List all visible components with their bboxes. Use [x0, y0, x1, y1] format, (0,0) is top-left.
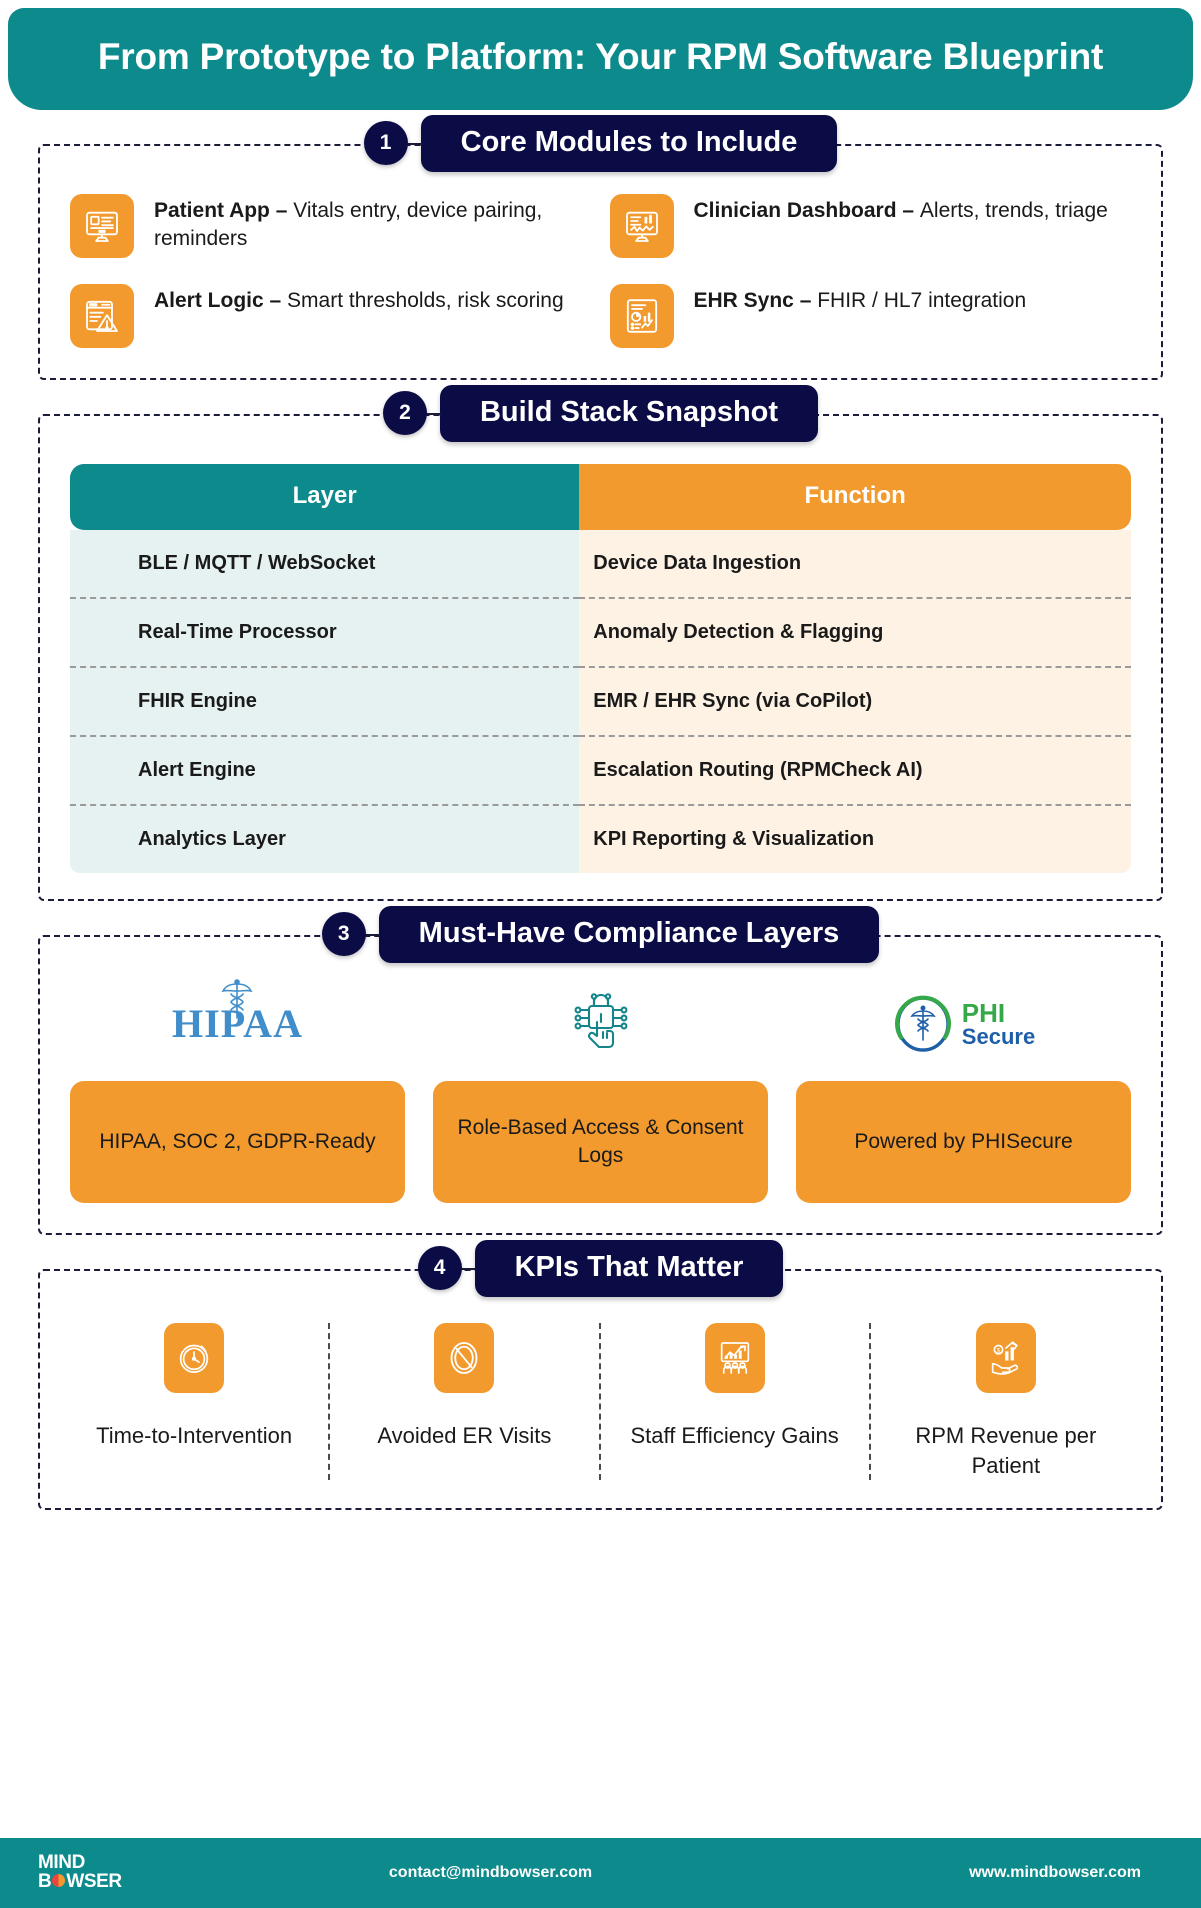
module-item: Patient App – Vitals entry, device pairi… — [70, 194, 592, 258]
prohibited-no-entry-icon — [434, 1323, 494, 1393]
cell-layer: FHIR Engine — [70, 667, 579, 736]
table-row: Analytics Layer KPI Reporting & Visualiz… — [70, 805, 1131, 873]
kpis-panel: Time-to-Intervention Avoided ER Visits — [38, 1269, 1163, 1510]
module-title: Clinician Dashboard – — [694, 199, 920, 222]
cell-function: KPI Reporting & Visualization — [579, 805, 1131, 873]
compliance-card: Powered by PHISecure — [796, 1081, 1131, 1203]
phi-logo-text-bottom: Secure — [962, 1026, 1035, 1048]
table-row: FHIR Engine EMR / EHR Sync (via CoPilot) — [70, 667, 1131, 736]
cell-layer: Real-Time Processor — [70, 598, 579, 667]
cell-layer: Alert Engine — [70, 736, 579, 805]
phi-secure-logo: PHI Secure — [892, 987, 1035, 1061]
kpi-column: Time-to-Intervention — [60, 1323, 330, 1480]
secure-lock-fingerprint-icon — [567, 987, 635, 1061]
build-stack-table: Layer Function BLE / MQTT / WebSocket De… — [70, 464, 1131, 873]
infographic-page: From Prototype to Platform: Your RPM Sof… — [0, 8, 1201, 1908]
monitor-dashboard-icon — [610, 194, 674, 258]
revenue-hand-chart-icon: $ — [976, 1323, 1036, 1393]
compliance-column: HIPAA HIPAA, SOC 2, GDPR-Ready — [70, 987, 405, 1203]
section-3-title: Must-Have Compliance Layers — [379, 906, 880, 963]
compliance-panel: HIPAA HIPAA, SOC 2, GDPR-Ready — [38, 935, 1163, 1235]
compliance-column: PHI Secure Powered by PHISecure — [796, 987, 1131, 1203]
report-chart-icon — [610, 284, 674, 348]
section-3-connector — [366, 934, 380, 936]
table-row: Real-Time Processor Anomaly Detection & … — [70, 598, 1131, 667]
section-4-connector — [462, 1268, 476, 1270]
table-row: BLE / MQTT / WebSocket Device Data Inges… — [70, 530, 1131, 598]
module-title: EHR Sync – — [694, 289, 818, 312]
section-4-number: 4 — [418, 1246, 462, 1290]
module-text: Patient App – Vitals entry, device pairi… — [154, 194, 592, 252]
core-modules-panel: Patient App – Vitals entry, device pairi… — [38, 144, 1163, 380]
kpi-label: Staff Efficiency Gains — [630, 1421, 838, 1450]
footer-email[interactable]: contact@mindbowser.com — [0, 1864, 1091, 1882]
section-1-connector — [408, 143, 422, 145]
module-desc: Smart thresholds, risk scoring — [287, 289, 564, 312]
kpi-label: RPM Revenue per Patient — [881, 1421, 1131, 1480]
cell-layer: BLE / MQTT / WebSocket — [70, 530, 579, 598]
team-growth-chart-icon — [705, 1323, 765, 1393]
compliance-card: HIPAA, SOC 2, GDPR-Ready — [70, 1081, 405, 1203]
section-build-stack: 2 Build Stack Snapshot Layer Function BL… — [38, 414, 1163, 901]
module-title: Alert Logic – — [154, 289, 287, 312]
clock-stopwatch-icon — [164, 1323, 224, 1393]
cell-function: EMR / EHR Sync (via CoPilot) — [579, 667, 1131, 736]
svg-text:$: $ — [997, 1348, 1001, 1355]
section-compliance: 3 Must-Have Compliance Layers — [38, 935, 1163, 1235]
section-1-title: Core Modules to Include — [421, 115, 838, 172]
section-core-modules: 1 Core Modules to Include — [38, 144, 1163, 380]
module-item: Clinician Dashboard – Alerts, trends, tr… — [610, 194, 1132, 258]
module-text: EHR Sync – FHIR / HL7 integration — [694, 284, 1027, 315]
cell-function: Escalation Routing (RPMCheck AI) — [579, 736, 1131, 805]
module-item: EHR Sync – FHIR / HL7 integration — [610, 284, 1132, 348]
page-header: From Prototype to Platform: Your RPM Sof… — [8, 8, 1193, 110]
section-2-title: Build Stack Snapshot — [440, 385, 818, 442]
cell-function: Anomaly Detection & Flagging — [579, 598, 1131, 667]
page-footer: MIND B WSER contact@mindbowser.com www.m… — [0, 1838, 1201, 1908]
section-1-number: 1 — [364, 121, 408, 165]
module-desc: FHIR / HL7 integration — [817, 289, 1026, 312]
column-header-layer: Layer — [70, 464, 579, 530]
module-title: Patient App – — [154, 199, 293, 222]
alert-document-icon — [70, 284, 134, 348]
table-row: Alert Engine Escalation Routing (RPMChec… — [70, 736, 1131, 805]
section-3-number: 3 — [322, 912, 366, 956]
cell-layer: Analytics Layer — [70, 805, 579, 873]
caduceus-icon — [217, 978, 257, 1025]
section-2-connector — [427, 413, 441, 415]
kpi-label: Time-to-Intervention — [96, 1421, 292, 1450]
phi-shield-icon — [892, 994, 954, 1054]
table-header-row: Layer Function — [70, 464, 1131, 530]
kpi-column: Staff Efficiency Gains — [601, 1323, 871, 1480]
monitor-patient-app-icon — [70, 194, 134, 258]
section-2-number: 2 — [383, 391, 427, 435]
page-title: From Prototype to Platform: Your RPM Sof… — [78, 34, 1123, 80]
kpi-label: Avoided ER Visits — [377, 1421, 551, 1450]
phi-logo-text-top: PHI — [962, 1000, 1035, 1027]
module-desc: Alerts, trends, triage — [920, 199, 1108, 222]
kpi-column: $ RPM Revenue per Patient — [871, 1323, 1141, 1480]
module-text: Alert Logic – Smart thresholds, risk sco… — [154, 284, 564, 315]
kpi-column: Avoided ER Visits — [330, 1323, 600, 1480]
build-stack-panel: Layer Function BLE / MQTT / WebSocket De… — [38, 414, 1163, 901]
column-header-function: Function — [579, 464, 1131, 530]
section-4-title: KPIs That Matter — [475, 1240, 784, 1297]
footer-website[interactable]: www.mindbowser.com — [969, 1864, 1141, 1882]
module-item: Alert Logic – Smart thresholds, risk sco… — [70, 284, 592, 348]
module-text: Clinician Dashboard – Alerts, trends, tr… — [694, 194, 1108, 225]
hipaa-logo: HIPAA — [172, 987, 303, 1061]
cell-function: Device Data Ingestion — [579, 530, 1131, 598]
section-kpis: 4 KPIs That Matter Time-to-Inte — [38, 1269, 1163, 1510]
compliance-column: Role-Based Access & Consent Logs — [433, 987, 768, 1203]
compliance-card: Role-Based Access & Consent Logs — [433, 1081, 768, 1203]
